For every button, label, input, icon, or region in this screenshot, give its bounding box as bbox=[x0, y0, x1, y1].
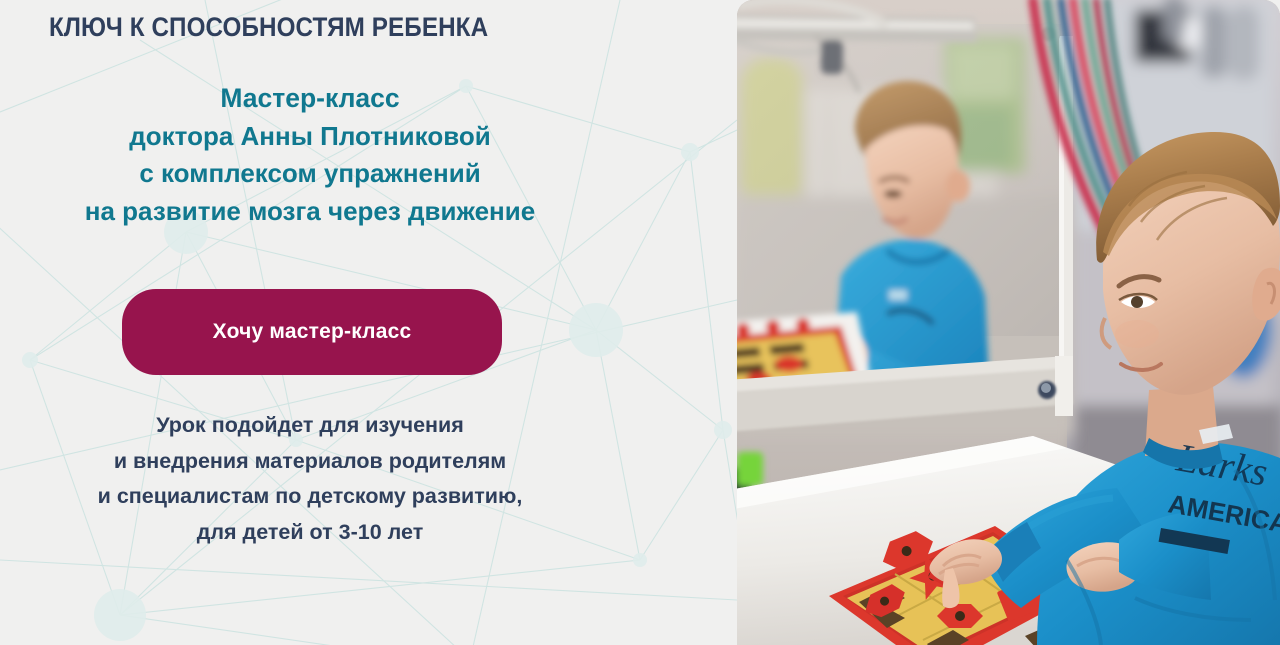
request-masterclass-button[interactable]: Хочу мастер-класс bbox=[122, 289, 502, 375]
hero-subheading-line-4: на развитие мозга через движение bbox=[0, 193, 620, 231]
audience-note-line-3: и специалистам по детскому развитию, bbox=[0, 479, 620, 515]
hero-subheading: Мастер-класс доктора Анны Плотниковой с … bbox=[0, 80, 620, 230]
hero-subheading-line-2: доктора Анны Плотниковой bbox=[0, 118, 620, 156]
audience-note-line-4: для детей от 3-10 лет bbox=[0, 515, 620, 551]
hero-kicker-title: КЛЮЧ К СПОСОБНОСТЯМ РЕБЕНКА bbox=[49, 12, 635, 42]
hero-content-column: КЛЮЧ К СПОСОБНОСТЯМ РЕБЕНКА Мастер-класс… bbox=[0, 0, 737, 645]
audience-note-line-2: и внедрения материалов родителям bbox=[0, 444, 620, 480]
hero-audience-note: Урок подойдет для изучения и внедрения м… bbox=[0, 408, 620, 550]
hero-section: КЛЮЧ К СПОСОБНОСТЯМ РЕБЕНКА Мастер-класс… bbox=[0, 0, 1280, 645]
hero-subheading-line-1: Мастер-класс bbox=[0, 80, 620, 118]
audience-note-line-1: Урок подойдет для изучения bbox=[0, 408, 620, 444]
hero-subheading-line-3: с комплексом упражнений bbox=[0, 155, 620, 193]
hero-photo-illustration: Larks AMERICA bbox=[737, 0, 1280, 645]
hero-photo: Larks AMERICA bbox=[737, 0, 1280, 645]
